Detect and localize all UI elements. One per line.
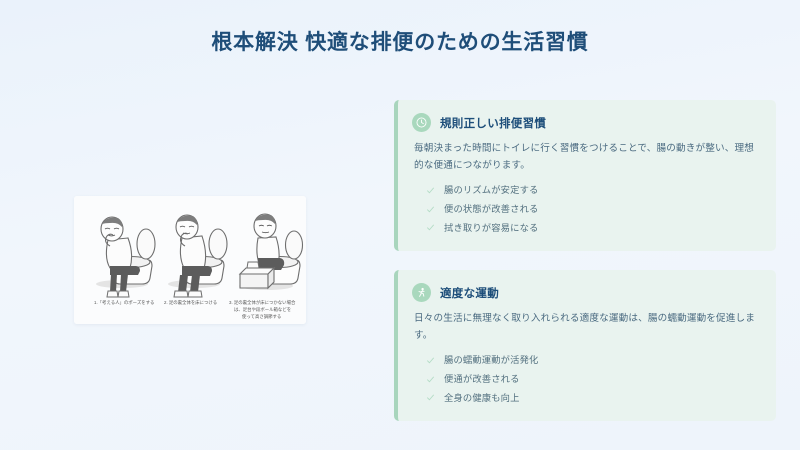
list-item-label: 拭き取りが容易になる [444, 222, 538, 234]
habit-card-moderate-exercise: 適度な運動 日々の生活に無理なく取り入れられる適度な運動は、腸の蠕動運動を促進し… [394, 270, 776, 421]
illustration-caption-1: 1.「考える人」のポーズをする [94, 299, 154, 306]
check-icon [426, 223, 435, 232]
list-item: 便の状態が改善される [426, 200, 760, 219]
card-header: 適度な運動 [412, 283, 760, 302]
illustration-panel: 1.「考える人」のポーズをする 2. 足の裏全体を床につける 3. 足の裏全体が… [74, 196, 306, 324]
list-item-label: 便の状態が改善される [444, 203, 538, 215]
slide-root: 根本解決 快適な排便のための生活習慣 [0, 0, 800, 450]
list-item-label: 便通が改善される [444, 373, 520, 385]
illustration-caption-3b: は、足台や段ボール箱などを [234, 306, 291, 313]
card-title: 規則正しい排便習慣 [440, 115, 546, 131]
check-icon [426, 186, 435, 195]
card-bullet-list: 腸の蠕動運動が活発化 便通が改善される [412, 351, 760, 407]
card-header: 規則正しい排便習慣 [412, 113, 760, 132]
list-item-label: 全身の健康も向上 [444, 392, 520, 404]
illustration-caption-2: 2. 足の裏全体を床につける [164, 299, 217, 306]
habit-cards-list: 規則正しい排便習慣 毎朝決まった時間にトイレに行く習慣をつけることで、腸の動きが… [394, 100, 776, 421]
check-icon [426, 205, 435, 214]
card-body-text: 毎朝決まった時間にトイレに行く習慣をつけることで、腸の動きが整い、理想的な便通に… [412, 141, 760, 174]
habit-card-regular-bowel-movement: 規則正しい排便習慣 毎朝決まった時間にトイレに行く習慣をつけることで、腸の動きが… [394, 100, 776, 251]
running-person-icon [412, 283, 431, 302]
page-title: 根本解決 快適な排便のための生活習慣 [0, 26, 800, 56]
list-item: 腸のリズムが安定する [426, 181, 760, 200]
list-item-label: 腸のリズムが安定する [444, 184, 538, 196]
list-item: 全身の健康も向上 [426, 388, 760, 407]
illustration-caption-3c: 使って高さ調節する [242, 313, 281, 320]
toilet-posture-illustration: 1.「考える人」のポーズをする 2. 足の裏全体を床につける 3. 足の裏全体が… [74, 196, 306, 324]
check-icon [426, 356, 435, 365]
illustration-caption-3a: 3. 足の裏全体が床につかない場合 [229, 299, 296, 306]
card-body-text: 日々の生活に無理なく取り入れられる適度な運動は、腸の蠕動運動を促進します。 [412, 311, 760, 344]
card-bullet-list: 腸のリズムが安定する 便の状態が改善される [412, 181, 760, 237]
list-item-label: 腸の蠕動運動が活発化 [444, 354, 538, 366]
card-title: 適度な運動 [440, 285, 499, 301]
check-icon [426, 393, 435, 402]
check-icon [426, 375, 435, 384]
list-item: 腸の蠕動運動が活発化 [426, 351, 760, 370]
list-item: 拭き取りが容易になる [426, 218, 760, 237]
list-item: 便通が改善される [426, 370, 760, 389]
clock-icon [412, 113, 431, 132]
